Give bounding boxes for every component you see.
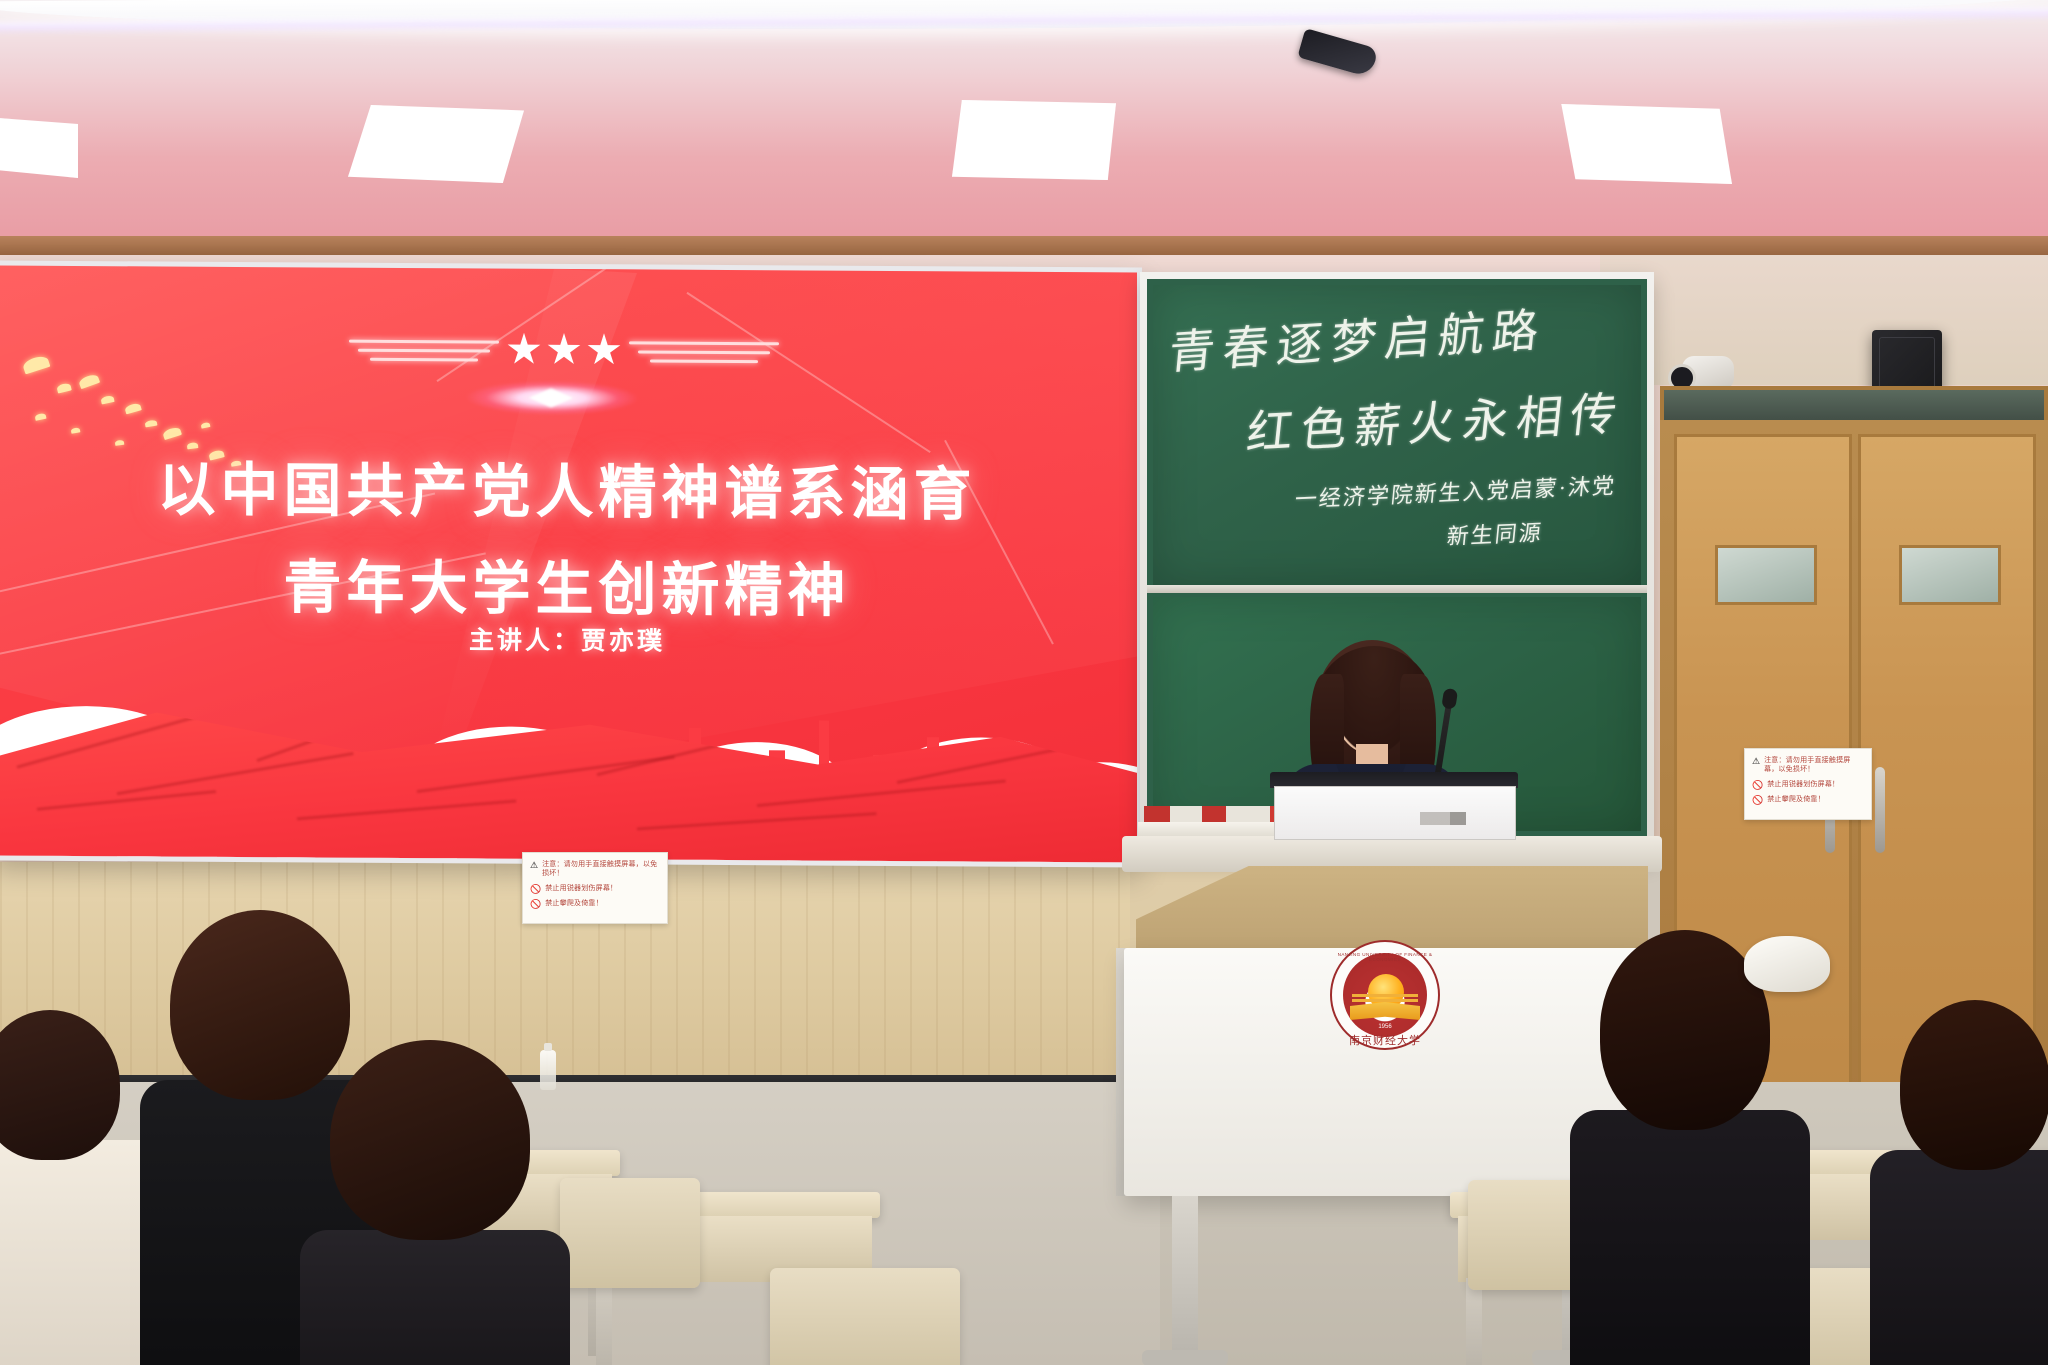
emblem-founded-year: 1956 bbox=[1330, 1024, 1440, 1030]
dove-icon bbox=[124, 402, 142, 414]
audience-torso bbox=[300, 1230, 570, 1365]
notice-line: 禁止用锐器划伤屏幕！ bbox=[1767, 781, 1839, 790]
star-icon bbox=[547, 333, 581, 367]
ceiling bbox=[0, 0, 2048, 255]
led-display-frame: 以中国共产党人精神谱系涵育 青年大学生创新精神 主讲人：贾亦璞 bbox=[0, 260, 1142, 867]
no-touch-icon: 🚫 bbox=[530, 885, 541, 894]
laptop[interactable] bbox=[1270, 772, 1518, 844]
ceiling-light-panel-2 bbox=[348, 105, 524, 183]
audience-torso bbox=[1870, 1150, 2048, 1365]
laptop-screen bbox=[1274, 786, 1516, 840]
hair-bow bbox=[1744, 936, 1830, 992]
dove-icon bbox=[162, 426, 182, 440]
notice-line: 禁止攀爬及倚靠！ bbox=[1767, 796, 1825, 805]
led-display: 以中国共产党人精神谱系涵育 青年大学生创新精神 主讲人：贾亦璞 bbox=[0, 266, 1137, 863]
notice-line: 注意：请勿用手直接触摸屏幕，以免损坏！ bbox=[1764, 757, 1864, 775]
notice-line: 禁止攀爬及倚靠！ bbox=[545, 900, 603, 909]
dove-icon bbox=[71, 427, 81, 433]
dove-icon bbox=[100, 395, 114, 404]
emblem-chinese-name: 南京财经大学 bbox=[1330, 1032, 1440, 1048]
lecture-hall-photo: 以中国共产党人精神谱系涵育 青年大学生创新精神 主讲人：贾亦璞 青春逐梦启航路 … bbox=[0, 0, 2048, 1365]
ceiling-light-panel-1 bbox=[0, 118, 78, 178]
star-icon bbox=[587, 333, 621, 367]
notice-line: 注意：请勿用手直接触摸屏幕，以免损坏！ bbox=[542, 861, 660, 879]
dove-flock-decoration bbox=[5, 324, 305, 466]
silk-fold bbox=[117, 752, 354, 795]
ceiling-light-panel-4 bbox=[1556, 104, 1732, 184]
dove-icon bbox=[201, 422, 211, 429]
silk-fold bbox=[757, 780, 1006, 808]
sparkle-glow-icon bbox=[467, 380, 637, 415]
ceiling-light-panel-3 bbox=[952, 100, 1116, 180]
audience-member bbox=[1890, 1000, 2048, 1365]
university-emblem: NANJING UNIVERSITY OF FINANCE & ECONOMIC… bbox=[1330, 940, 1440, 1050]
silk-fold bbox=[297, 800, 516, 821]
door-notice-sign: ⚠ 注意：请勿用手直接触摸屏幕，以免损坏！ 🚫 禁止用锐器划伤屏幕！ 🚫 禁止攀… bbox=[1744, 748, 1872, 820]
audience-member bbox=[0, 1010, 160, 1365]
emblem-english-name: NANJING UNIVERSITY OF FINANCE & ECONOMIC… bbox=[1330, 952, 1440, 962]
dove-icon bbox=[34, 413, 46, 421]
star-icon bbox=[507, 333, 541, 367]
lectern-foot-left bbox=[1142, 1350, 1228, 1365]
door-window-left bbox=[1715, 545, 1817, 605]
warning-triangle-icon: ⚠ bbox=[530, 861, 538, 870]
blackboard-divider bbox=[1147, 585, 1647, 593]
no-touch-icon: 🚫 bbox=[1752, 781, 1763, 790]
silk-fold bbox=[637, 812, 877, 830]
dove-icon bbox=[145, 419, 158, 427]
lectern-leg-left bbox=[1172, 1196, 1198, 1356]
silk-fold bbox=[417, 755, 675, 793]
audience-torso bbox=[1570, 1110, 1810, 1365]
led-title-line-1: 以中国共产党人精神谱系涵育 bbox=[0, 446, 1137, 540]
audience-head bbox=[330, 1040, 530, 1240]
notice-line: 禁止用锐器划伤屏幕！ bbox=[545, 885, 617, 894]
audience-head bbox=[1900, 1000, 2048, 1170]
chalk-text-line-4: 新生同源 bbox=[1445, 515, 1544, 551]
warning-triangle-icon: ⚠ bbox=[1752, 757, 1760, 766]
student-chair-back bbox=[560, 1178, 700, 1288]
wall-notice-sign: ⚠ 注意：请勿用手直接触摸屏幕，以免损坏！ 🚫 禁止用锐器划伤屏幕！ 🚫 禁止攀… bbox=[522, 852, 668, 924]
door-window-right bbox=[1899, 545, 2001, 605]
led-title-block: 以中国共产党人精神谱系涵育 青年大学生创新精神 bbox=[0, 446, 1137, 637]
dove-icon bbox=[115, 440, 125, 446]
star-rule-ornament bbox=[349, 328, 779, 383]
audience-head bbox=[0, 1010, 120, 1160]
door-handle-right[interactable] bbox=[1875, 767, 1885, 853]
no-climb-icon: 🚫 bbox=[1752, 796, 1763, 805]
audience-member bbox=[1570, 930, 1800, 1365]
projector-sensor-icon bbox=[1297, 28, 1378, 78]
dove-icon bbox=[22, 354, 51, 374]
audience-member bbox=[300, 1040, 560, 1365]
dove-icon bbox=[78, 373, 100, 389]
no-climb-icon: 🚫 bbox=[530, 900, 541, 909]
laptop-badge bbox=[1420, 812, 1466, 825]
dove-icon bbox=[56, 382, 72, 393]
student-chair-back bbox=[770, 1268, 960, 1365]
emblem-rays-icon bbox=[1352, 994, 1418, 1003]
